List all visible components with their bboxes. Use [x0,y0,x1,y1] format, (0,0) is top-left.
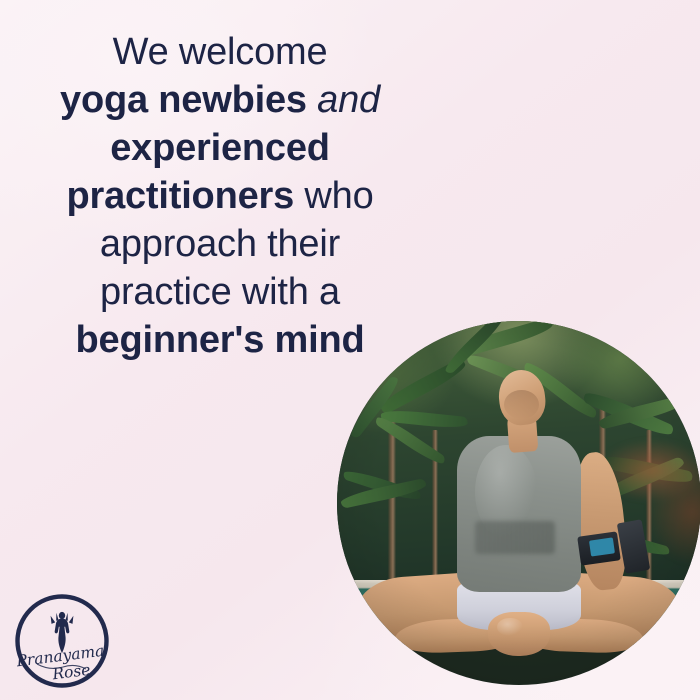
headline-text-block: We welcome yoga newbies and experienced … [18,28,422,364]
headline-line-7-bold: beginner's mind [76,319,365,361]
meditation-photo [337,321,700,685]
headline-line-6-text: practice with a [100,271,340,313]
headline-line-1: We welcome [18,28,422,76]
headline-line-4: practitioners who [18,172,422,220]
headline-line-3-bold: experienced [110,127,330,169]
brand-logo[interactable]: Pranayama Rose [10,589,114,693]
headline-line-5-text: approach their [100,223,340,265]
headline-line-2: yoga newbies and [18,76,422,124]
logo-wordmark: Pranayama Rose [15,642,106,684]
headline-line-3: experienced [18,124,422,172]
headline-line-4-bold: practitioners [66,175,304,217]
headline-line-4-regular: who [304,175,373,217]
headline-line-2-italic: and [317,79,380,121]
social-media-card: We welcome yoga newbies and experienced … [0,0,700,700]
headline-line-6: practice with a [18,268,422,316]
photo-vignette [337,321,700,685]
headline-line-2-bold: yoga newbies [60,79,317,121]
headline-line-5: approach their [18,220,422,268]
headline-line-1-text: We welcome [113,31,328,73]
